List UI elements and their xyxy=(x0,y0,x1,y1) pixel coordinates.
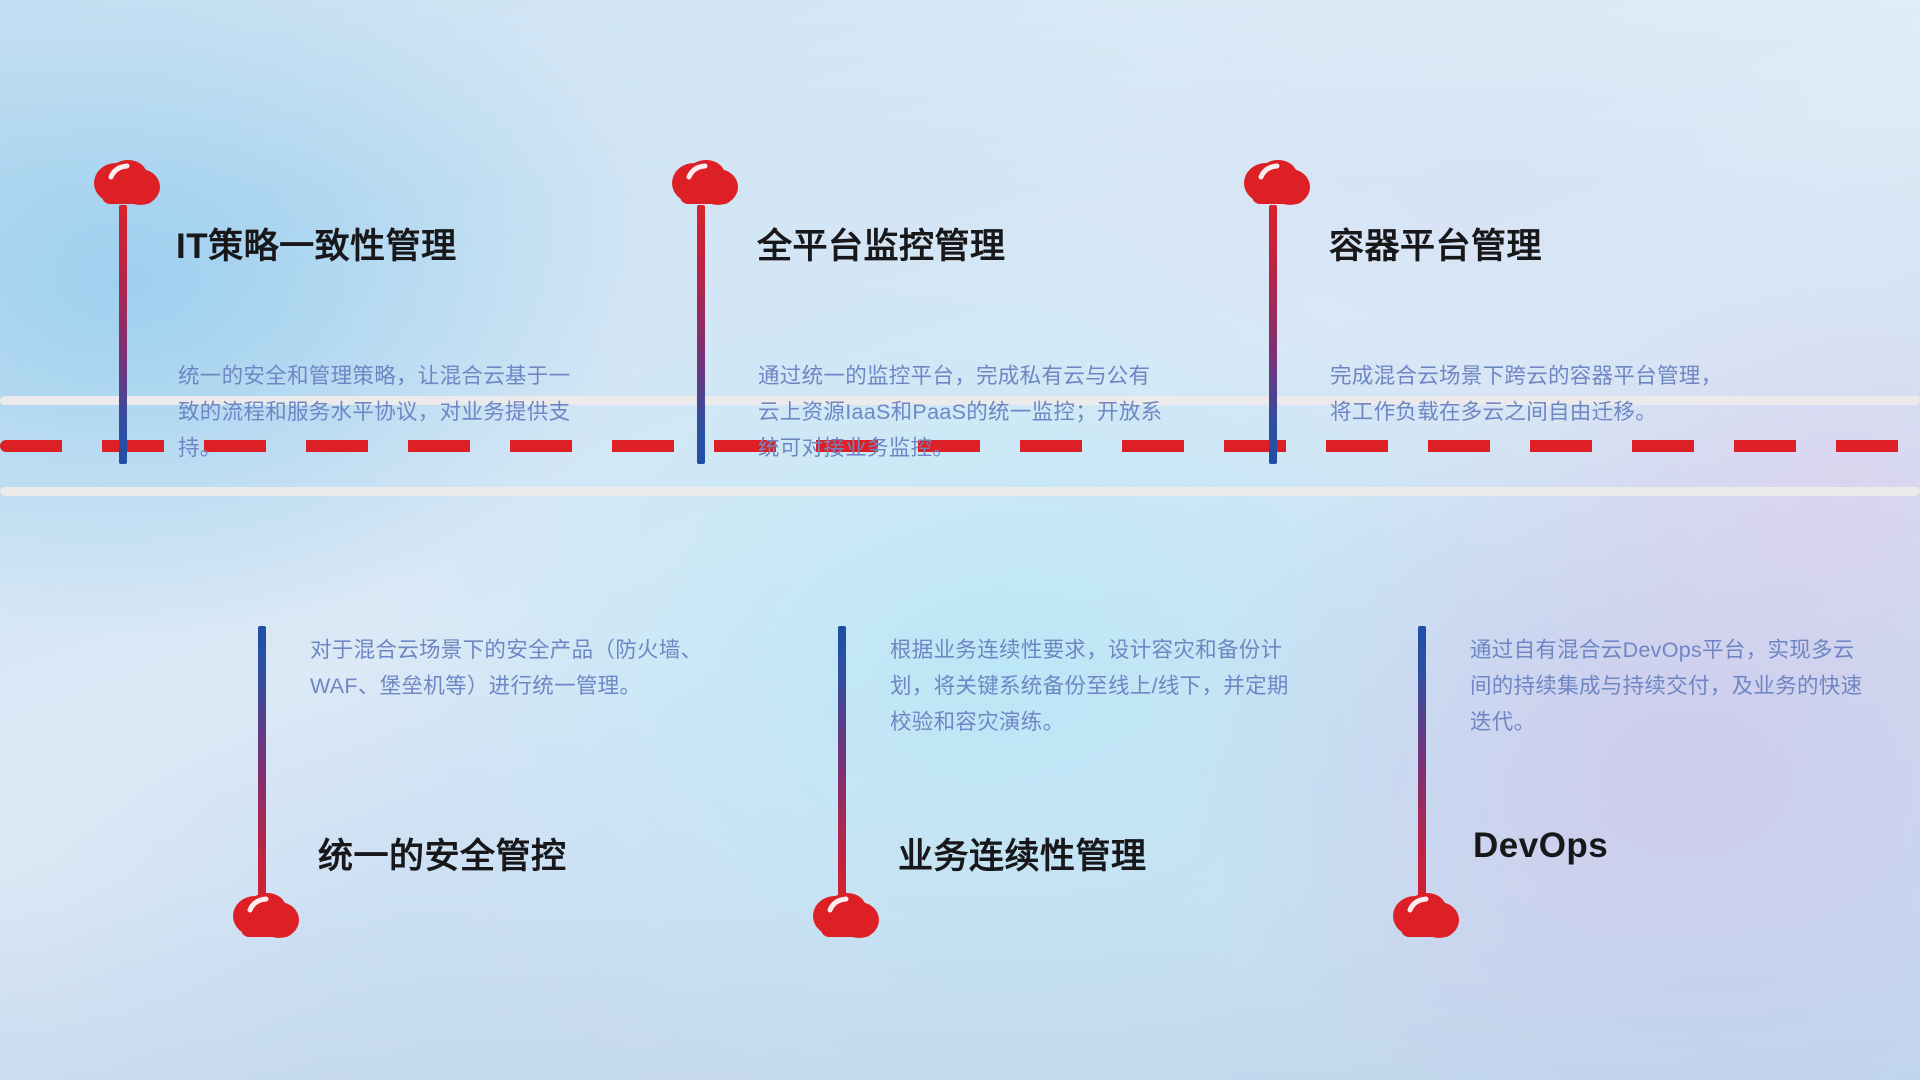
bottom-item-3-description: 通过自有混合云DevOps平台，实现多云间的持续集成与持续交付，及业务的快速迭代… xyxy=(1470,632,1870,740)
top-item-3-title: 容器平台管理 xyxy=(1329,218,1542,269)
top-item-2-description: 通过统一的监控平台，完成私有云与公有云上资源IaaS和PaaS的统一监控；开放系… xyxy=(758,358,1168,466)
bottom-item-2-description: 根据业务连续性要求，设计容灾和备份计划，将关键系统备份至线上/线下，并定期校验和… xyxy=(890,632,1300,740)
cloud-icon xyxy=(229,890,303,944)
timeline-pole xyxy=(119,205,127,464)
timeline-pole xyxy=(1418,626,1426,915)
top-item-2-title: 全平台监控管理 xyxy=(757,218,1006,269)
top-item-1-title: IT策略一致性管理 xyxy=(176,218,457,269)
timeline-pole xyxy=(838,626,846,915)
bottom-item-3-title: DevOps xyxy=(1473,826,1608,866)
road-edge-bottom xyxy=(0,487,1920,496)
timeline-pole xyxy=(1269,205,1277,464)
timeline-pole xyxy=(258,626,266,915)
cloud-icon xyxy=(809,890,883,944)
top-item-3-description: 完成混合云场景下跨云的容器平台管理，将工作负载在多云之间自由迁移。 xyxy=(1330,358,1740,430)
bottom-item-2-title: 业务连续性管理 xyxy=(898,828,1147,879)
timeline-pole xyxy=(697,205,705,464)
cloud-icon xyxy=(1240,157,1314,211)
cloud-icon xyxy=(90,157,164,211)
cloud-icon xyxy=(1389,890,1463,944)
cloud-icon xyxy=(668,157,742,211)
bottom-item-1-description: 对于混合云场景下的安全产品（防火墙、WAF、堡垒机等）进行统一管理。 xyxy=(310,632,720,704)
top-item-1-description: 统一的安全和管理策略，让混合云基于一致的流程和服务水平协议，对业务提供支持。 xyxy=(178,358,588,466)
bottom-item-1-title: 统一的安全管控 xyxy=(318,828,567,879)
